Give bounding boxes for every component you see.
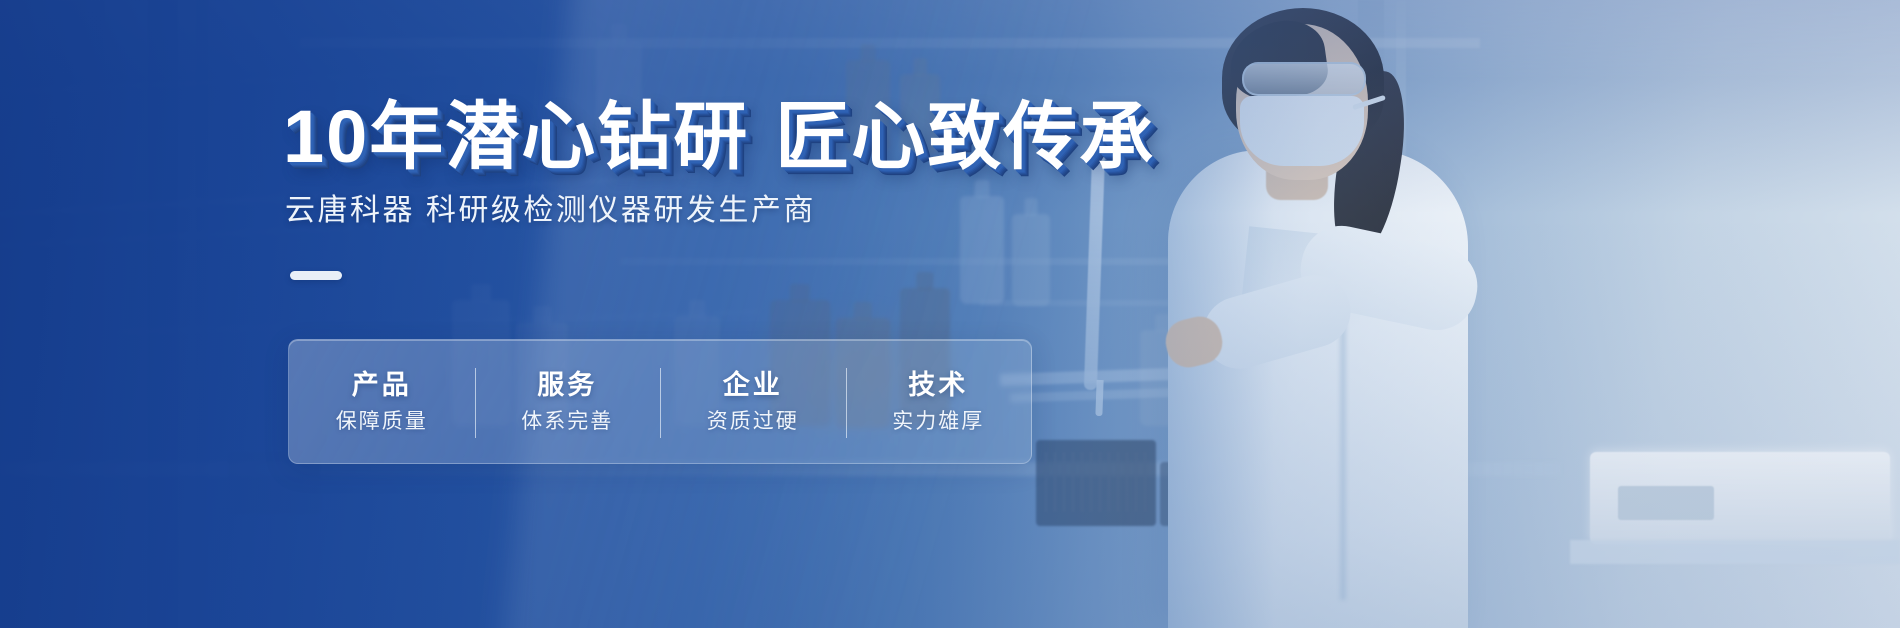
feature-item-technology[interactable]: 技术 实力雄厚 — [846, 340, 1032, 463]
feature-highlights-card: 产品 保障质量 服务 体系完善 企业 资质过硬 技术 实力雄厚 — [288, 339, 1032, 464]
accent-dash-divider — [290, 271, 342, 280]
feature-subtitle: 体系完善 — [521, 411, 613, 432]
headline-segment-1: 10年潜心钻研 — [283, 95, 749, 178]
feature-item-product[interactable]: 产品 保障质量 — [289, 340, 475, 463]
feature-title: 企业 — [723, 372, 783, 399]
feature-title: 服务 — [537, 372, 597, 399]
feature-item-enterprise[interactable]: 企业 资质过硬 — [660, 340, 846, 463]
headline-segment-2: 匠心致传承 — [775, 95, 1155, 178]
hero-banner: 10年潜心钻研匠心致传承 云唐科器 科研级检测仪器研发生产商 产品 保障质量 服… — [0, 0, 1900, 628]
banner-subtitle: 云唐科器 科研级检测仪器研发生产商 — [285, 196, 816, 226]
feature-subtitle: 保障质量 — [336, 411, 428, 432]
banner-headline: 10年潜心钻研匠心致传承 — [283, 100, 1155, 174]
feature-subtitle: 资质过硬 — [707, 411, 799, 432]
banner-content: 10年潜心钻研匠心致传承 云唐科器 科研级检测仪器研发生产商 产品 保障质量 服… — [0, 0, 1900, 628]
feature-title: 技术 — [908, 372, 968, 399]
feature-subtitle: 实力雄厚 — [892, 411, 984, 432]
feature-item-service[interactable]: 服务 体系完善 — [475, 340, 661, 463]
feature-title: 产品 — [352, 372, 412, 399]
